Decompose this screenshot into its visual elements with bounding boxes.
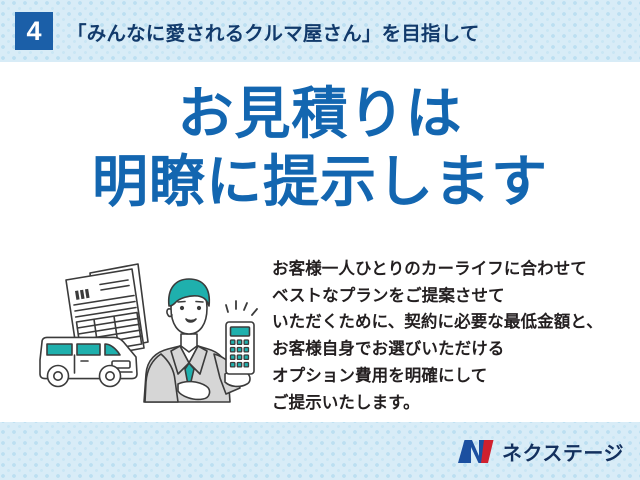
headline-line-2: 明瞭に提示します — [0, 152, 640, 212]
headline-line-1: お見積りは — [0, 84, 640, 144]
content-panel: お見積りは 明瞭に提示します お客様一人ひとりのカーライフに合わせて ベストなプ… — [0, 62, 640, 422]
body-copy-line: ベストなプランをご提案させて — [272, 283, 603, 310]
body-copy-line: ご提示いたします。 — [272, 390, 603, 417]
step-number-badge: 4 — [15, 12, 53, 50]
illustration-svg — [28, 262, 266, 412]
nextage-logo: ネクステージ — [457, 436, 624, 466]
body-copy-line: オプション費用を明確にして — [272, 363, 603, 390]
nextage-logo-text: ネクステージ — [502, 437, 624, 466]
body-copy-line: お客様一人ひとりのカーライフに合わせて — [272, 256, 603, 283]
advertisement-banner: 4 「みんなに愛されるクルマ屋さん」を目指して お見積りは 明瞭に提示します お… — [0, 0, 640, 480]
body-copy-line: お客様自身でお選びいただける — [272, 336, 603, 363]
header-title: 「みんなに愛されるクルマ屋さん」を目指して — [67, 17, 480, 46]
nextage-n-mark-icon — [457, 438, 495, 465]
body-copy: お客様一人ひとりのカーライフに合わせて ベストなプランをご提案させて いただくた… — [272, 256, 603, 416]
body-copy-line: いただくために、契約に必要な最低金額と、 — [272, 309, 603, 336]
header-bar: 4 「みんなに愛されるクルマ屋さん」を目指して — [0, 0, 640, 62]
headline: お見積りは 明瞭に提示します — [0, 84, 640, 213]
footer-bar: ネクステージ — [0, 422, 640, 480]
illustration-salesman-quote-van — [28, 262, 266, 412]
